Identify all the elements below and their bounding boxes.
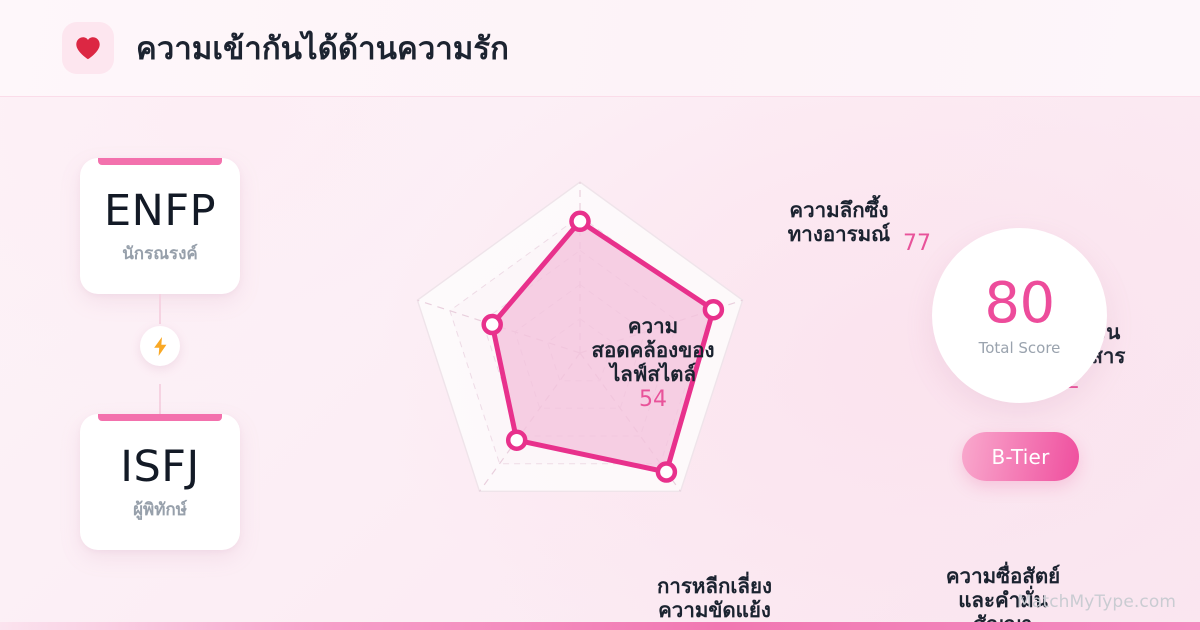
type-code: ENFP xyxy=(104,190,216,233)
bottom-accent-bar xyxy=(0,622,1200,630)
connector-line-bottom xyxy=(159,384,161,414)
total-score-value: 80 xyxy=(984,276,1054,332)
compatibility-infographic: ความเข้ากันได้ด้านความรัก ENFP นักรณรงค์… xyxy=(0,0,1200,630)
type-nickname: นักรณรงค์ xyxy=(122,246,198,263)
axis-label-lifestyle: ความสอดคล้องของไลฟ์สไตล์ 54 xyxy=(588,315,718,414)
card-accent-bar xyxy=(98,158,222,165)
axis-value: 77 xyxy=(903,230,931,258)
type-card-secondary[interactable]: ISFJ ผู้พิทักษ์ xyxy=(80,414,240,550)
page-header: ความเข้ากันได้ด้านความรัก xyxy=(0,0,1200,97)
radar-chart: ความลึกซึ้งทางอารมณ์ 77 ความกระตือรือร้น… xyxy=(280,95,880,630)
type-code: ISFJ xyxy=(120,446,199,489)
heart-icon xyxy=(62,22,114,74)
page-title: ความเข้ากันได้ด้านความรัก xyxy=(136,23,509,73)
axis-label-text: ความสอดคล้องของไลฟ์สไตล์ xyxy=(591,314,714,386)
connector-line-top xyxy=(159,294,161,324)
total-score-circle: 80 Total Score xyxy=(932,228,1107,403)
total-score-caption: Total Score xyxy=(979,341,1061,356)
site-watermark: MatchMyType.com xyxy=(1017,592,1176,612)
lightning-bolt-icon xyxy=(140,326,180,366)
tier-label: B-Tier xyxy=(992,445,1050,469)
card-accent-bar xyxy=(98,414,222,421)
tier-badge: B-Tier xyxy=(962,432,1079,481)
radar-chart-svg xyxy=(280,95,880,630)
axis-label-emotional-depth: ความลึกซึ้งทางอารมณ์ 77 xyxy=(775,199,903,247)
type-card-primary[interactable]: ENFP นักรณรงค์ xyxy=(80,158,240,294)
type-connector xyxy=(159,294,161,414)
axis-label-text: ความลึกซึ้งทางอารมณ์ xyxy=(788,198,890,246)
type-nickname: ผู้พิทักษ์ xyxy=(133,502,187,519)
axis-label-text: การหลีกเลี่ยงความขัดแย้ง xyxy=(657,574,772,622)
axis-value: 54 xyxy=(588,386,718,414)
